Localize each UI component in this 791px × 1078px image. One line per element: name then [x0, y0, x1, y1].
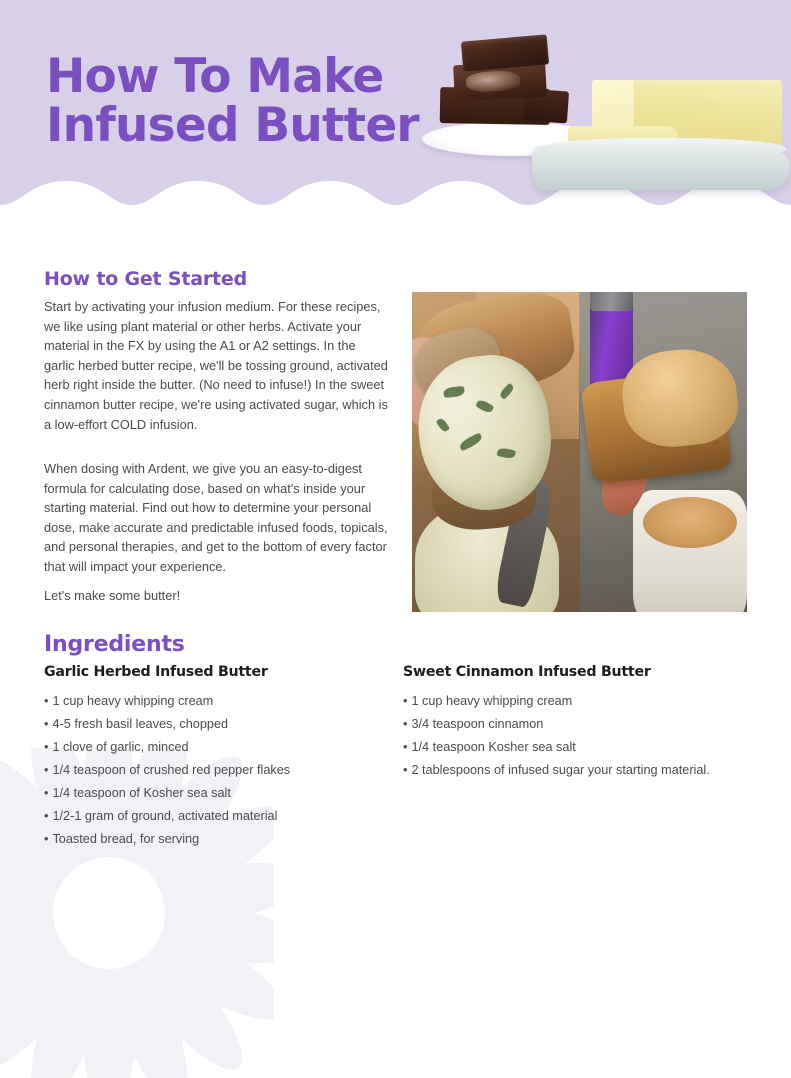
- list-item: •1/4 teaspoon Kosher sea salt: [403, 736, 753, 759]
- recipe-title-sweet-cinnamon: Sweet Cinnamon Infused Butter: [403, 664, 753, 680]
- list-item: •1 clove of garlic, minced: [44, 736, 394, 759]
- photo-garlic-herbed-butter: [412, 292, 580, 612]
- bullet-icon: •: [44, 740, 48, 754]
- ingredient-text: 3/4 teaspoon cinnamon: [411, 717, 543, 731]
- ingredient-text: 1 cup heavy whipping cream: [52, 694, 213, 708]
- list-item: •2 tablespoons of infused sugar your sta…: [403, 759, 753, 782]
- ingredient-text: 1 cup heavy whipping cream: [411, 694, 572, 708]
- paragraph-dosing: When dosing with Ardent, we give you an …: [44, 459, 389, 577]
- ingredient-list-sweet-cinnamon: •1 cup heavy whipping cream •3/4 teaspoo…: [403, 690, 753, 782]
- recipe-column-sweet-cinnamon: Sweet Cinnamon Infused Butter •1 cup hea…: [403, 664, 753, 782]
- page-title: How To Make Infused Butter: [46, 52, 486, 150]
- ingredient-list-garlic-herbed: •1 cup heavy whipping cream •4-5 fresh b…: [44, 690, 394, 851]
- ingredient-text: 1/4 teaspoon of crushed red pepper flake…: [52, 763, 290, 777]
- bullet-icon: •: [44, 832, 48, 846]
- bullet-icon: •: [403, 694, 407, 708]
- list-item: •1/4 teaspoon of Kosher sea salt: [44, 782, 394, 805]
- ingredient-text: 4-5 fresh basil leaves, chopped: [52, 717, 228, 731]
- recipe-column-garlic-herbed: Garlic Herbed Infused Butter •1 cup heav…: [44, 664, 394, 851]
- bullet-icon: •: [44, 694, 48, 708]
- bullet-icon: •: [44, 786, 48, 800]
- ingredient-text: 2 tablespoons of infused sugar your star…: [411, 763, 709, 777]
- grinder-cap: [590, 292, 634, 311]
- ingredient-text: 1/2-1 gram of ground, activated material: [52, 809, 277, 823]
- list-item: •4-5 fresh basil leaves, chopped: [44, 713, 394, 736]
- list-item: •1 cup heavy whipping cream: [403, 690, 753, 713]
- bullet-icon: •: [44, 809, 48, 823]
- butter-dish: [532, 146, 790, 190]
- photo-sweet-cinnamon-butter: [580, 292, 748, 612]
- bullet-icon: •: [44, 763, 48, 777]
- list-item: •Toasted bread, for serving: [44, 828, 394, 851]
- heading-ingredients: Ingredients: [44, 632, 185, 657]
- heading-how-to-get-started: How to Get Started: [44, 268, 247, 290]
- list-item: •1/2-1 gram of ground, activated materia…: [44, 805, 394, 828]
- bullet-icon: •: [403, 717, 407, 731]
- bullet-icon: •: [403, 740, 407, 754]
- ingredient-text: Toasted bread, for serving: [52, 832, 199, 846]
- ingredient-text: 1 clove of garlic, minced: [52, 740, 188, 754]
- paragraph-closing: Let's make some butter!: [44, 586, 389, 606]
- list-item: •1 cup heavy whipping cream: [44, 690, 394, 713]
- recipe-page: How To Make Infused Butter: [0, 0, 791, 1024]
- ingredient-text: 1/4 teaspoon Kosher sea salt: [411, 740, 575, 754]
- bullet-icon: •: [44, 717, 48, 731]
- recipe-title-garlic-herbed: Garlic Herbed Infused Butter: [44, 664, 394, 680]
- list-item: •1/4 teaspoon of crushed red pepper flak…: [44, 759, 394, 782]
- ingredient-text: 1/4 teaspoon of Kosher sea salt: [52, 786, 230, 800]
- paragraph-activation: Start by activating your infusion medium…: [44, 297, 389, 434]
- recipe-photo-collage: [412, 292, 747, 612]
- bullet-icon: •: [403, 763, 407, 777]
- list-item: •3/4 teaspoon cinnamon: [403, 713, 753, 736]
- ramekin-cinnamon-butter: [643, 497, 737, 548]
